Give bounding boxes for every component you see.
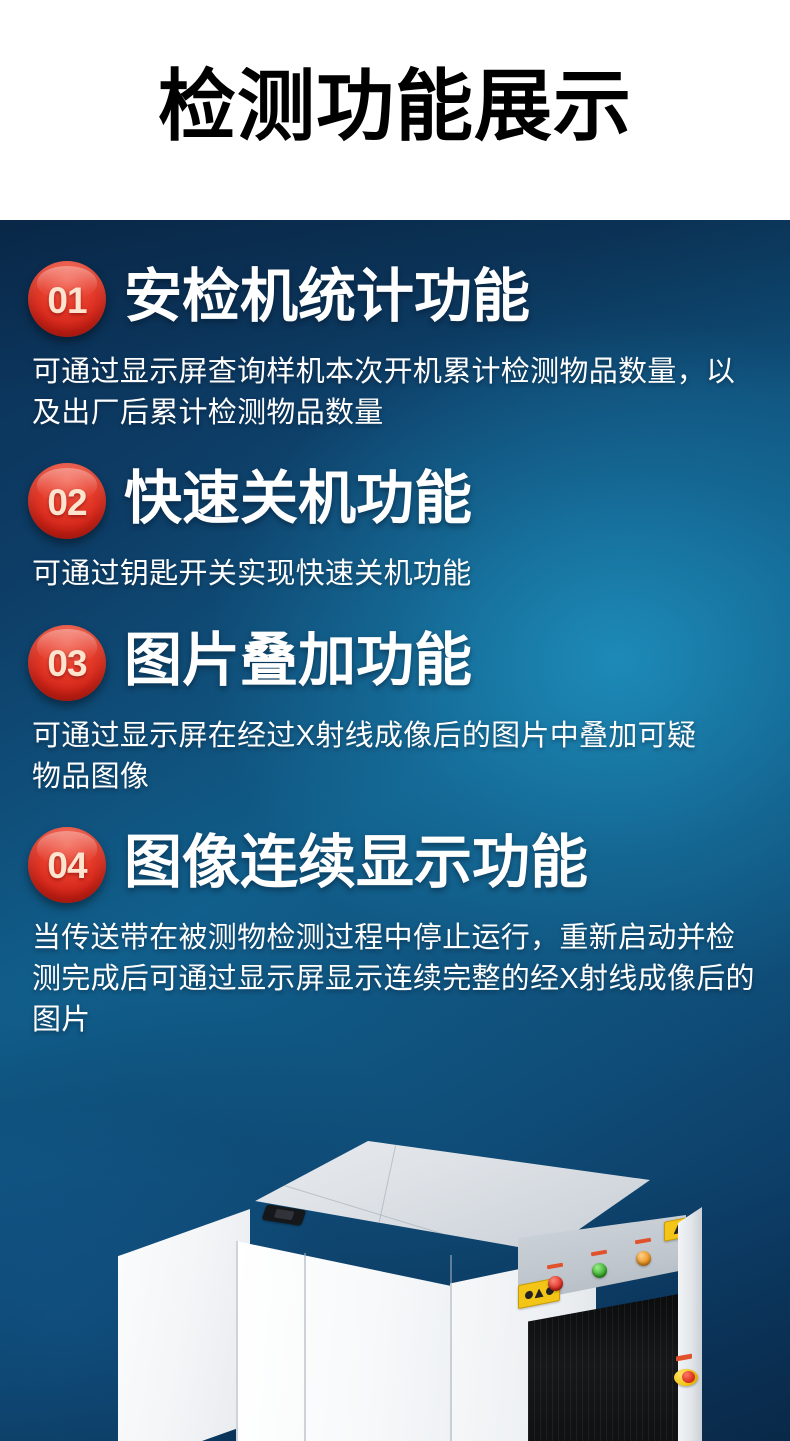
badge-number: 01	[47, 282, 86, 319]
feature-item-03: 03 图片叠加功能 可通过显示屏在经过X射线成像后的图片中叠加可疑物品图像	[0, 622, 790, 798]
badge-number: 03	[47, 645, 86, 682]
feature-heading-row: 04 图像连续显示功能	[28, 824, 766, 906]
promo-page: 检测功能展示 01 安检机统计功能 可通过显示屏查询样机本次开机累计检测物品数量…	[0, 0, 790, 1441]
feature-description: 可通过显示屏在经过X射线成像后的图片中叠加可疑物品图像	[32, 716, 712, 798]
scanner-left-panel	[118, 1209, 250, 1441]
scanner-panel-seam	[304, 1253, 306, 1441]
scanner-right-post	[678, 1207, 702, 1441]
feature-item-01: 01 安检机统计功能 可通过显示屏查询样机本次开机累计检测物品数量，以及出厂后累…	[0, 258, 790, 434]
feature-heading-row: 01 安检机统计功能	[28, 258, 766, 340]
number-badge-icon: 03	[28, 625, 106, 701]
page-title: 检测功能展示	[158, 67, 632, 145]
feature-description: 可通过钥匙开关实现快速关机功能	[32, 554, 762, 595]
indicator-lamp-red-icon	[548, 1276, 563, 1291]
feature-title: 图像连续显示功能	[124, 834, 588, 892]
badge-number: 02	[47, 484, 86, 521]
feature-title: 图片叠加功能	[124, 632, 472, 690]
feature-section: 01 安检机统计功能 可通过显示屏查询样机本次开机累计检测物品数量，以及出厂后累…	[0, 220, 790, 1441]
feature-title: 安检机统计功能	[124, 268, 530, 326]
xray-scanner-illustration	[118, 1141, 718, 1441]
indicator-lamp-green-icon	[592, 1263, 607, 1278]
scanner-panel-seam	[236, 1241, 238, 1441]
scanner-panel-seam	[450, 1255, 452, 1441]
scanner-front-panel	[236, 1241, 456, 1441]
feature-title: 快速关机功能	[124, 470, 472, 528]
number-badge-icon: 02	[28, 463, 106, 539]
feature-list: 01 安检机统计功能 可通过显示屏查询样机本次开机累计检测物品数量，以及出厂后累…	[0, 220, 790, 1041]
indicator-lamp-amber-icon	[636, 1251, 651, 1266]
number-badge-icon: 04	[28, 827, 106, 903]
emergency-stop-button-core-icon	[682, 1371, 695, 1383]
page-header: 检测功能展示	[0, 0, 790, 220]
product-image	[0, 1141, 790, 1441]
feature-item-04: 04 图像连续显示功能 当传送带在被测物检测过程中停止运行，重新启动并检测完成后…	[0, 824, 790, 1042]
badge-number: 04	[47, 847, 86, 884]
feature-item-02: 02 快速关机功能 可通过钥匙开关实现快速关机功能	[0, 460, 790, 595]
feature-description: 当传送带在被测物检测过程中停止运行，重新启动并检测完成后可通过显示屏显示连续完整…	[32, 918, 762, 1042]
feature-heading-row: 02 快速关机功能	[28, 460, 766, 542]
number-badge-icon: 01	[28, 261, 106, 337]
feature-description: 可通过显示屏查询样机本次开机累计检测物品数量，以及出厂后累计检测物品数量	[32, 352, 762, 434]
feature-heading-row: 03 图片叠加功能	[28, 622, 766, 704]
